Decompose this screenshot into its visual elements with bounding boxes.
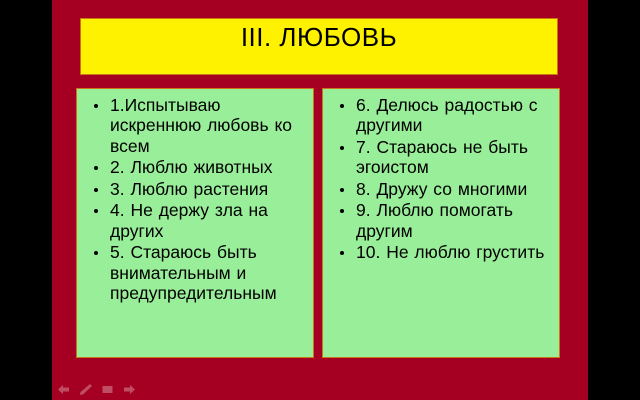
list-item: 1.Испытываю искреннюю любовь ко всем — [83, 95, 309, 156]
list-item: 8. Дружу со многими — [329, 179, 555, 199]
list-item: 10. Не люблю грустить — [329, 242, 555, 262]
page-title: III. ЛЮБОВЬ — [241, 19, 397, 50]
list-item: 9. Люблю помогать другим — [329, 200, 555, 241]
slide-title-box: III. ЛЮБОВЬ — [80, 18, 558, 75]
letterbox-left — [0, 0, 52, 400]
slideshow-control-bar[interactable] — [56, 383, 137, 396]
list-item: 5. Стараюсь быть внимательным и предупре… — [83, 242, 309, 303]
slideshow-menu-icon[interactable] — [100, 383, 115, 396]
pen-icon[interactable] — [78, 383, 93, 396]
slide-canvas[interactable]: III. ЛЮБОВЬ 1.Испытываю искреннюю любовь… — [52, 0, 588, 400]
bullet-list-left: 1.Испытываю искреннюю любовь ко всем 2. … — [83, 95, 309, 304]
next-slide-arrow-icon[interactable] — [122, 383, 137, 396]
list-item: 7. Стараюсь не быть эгоистом — [329, 137, 555, 178]
slideshow-viewport[interactable]: III. ЛЮБОВЬ 1.Испытываю искреннюю любовь… — [0, 0, 640, 400]
list-item: 6. Делюсь радостью с другими — [329, 95, 555, 136]
content-box-right: 6. Делюсь радостью с другими 7. Стараюсь… — [322, 88, 560, 358]
list-item: 2. Люблю животных — [83, 157, 309, 177]
list-item: 4. Не держу зла на других — [83, 200, 309, 241]
letterbox-right — [588, 0, 640, 400]
bullet-list-right: 6. Делюсь радостью с другими 7. Стараюсь… — [329, 95, 555, 263]
content-box-left: 1.Испытываю искреннюю любовь ко всем 2. … — [76, 88, 314, 358]
previous-slide-arrow-icon[interactable] — [56, 383, 71, 396]
list-item: 3. Люблю растения — [83, 179, 309, 199]
